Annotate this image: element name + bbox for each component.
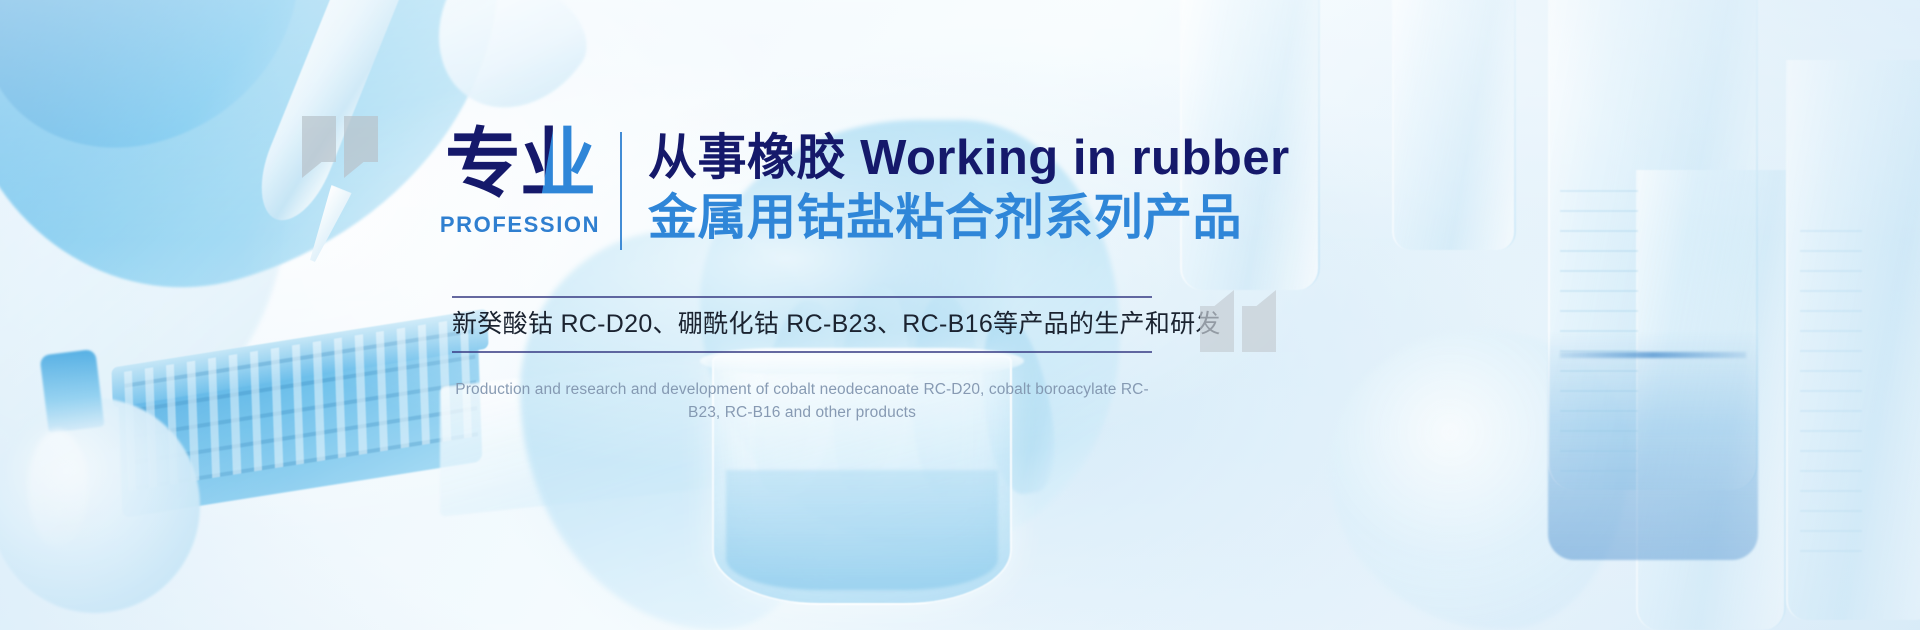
logo-char-zhuan: 专 bbox=[445, 122, 520, 207]
open-quote-icon bbox=[302, 116, 336, 162]
product-line: 新癸酸钴 RC-D20、硼酰化钴 RC-B23、RC-B16等产品的生产和研发 bbox=[452, 298, 1152, 351]
logo-char-ye: 业 bbox=[520, 122, 595, 207]
headline-lockup: 专业 PROFESSION 从事橡胶 Working in rubber 金属用… bbox=[446, 124, 1290, 250]
hero-banner: 专业 PROFESSION 从事橡胶 Working in rubber 金属用… bbox=[0, 0, 1920, 630]
vertical-divider bbox=[620, 132, 622, 250]
headline-line-2: 金属用钴盐粘合剂系列产品 bbox=[648, 188, 1290, 248]
profession-logo-label: PROFESSION bbox=[440, 212, 600, 238]
product-rule-top bbox=[452, 296, 1152, 298]
profession-logo-chinese: 专业 bbox=[445, 124, 595, 206]
banner-content: 专业 PROFESSION 从事橡胶 Working in rubber 金属用… bbox=[0, 0, 1920, 630]
product-rule-bottom bbox=[452, 351, 1152, 353]
headline-line-1: 从事橡胶 Working in rubber bbox=[648, 128, 1290, 188]
product-strip: 新癸酸钴 RC-D20、硼酰化钴 RC-B23、RC-B16等产品的生产和研发 bbox=[452, 296, 1152, 353]
profession-logo: 专业 PROFESSION bbox=[446, 124, 594, 238]
close-quote-icon bbox=[1200, 306, 1234, 352]
headline-block: 从事橡胶 Working in rubber 金属用钴盐粘合剂系列产品 bbox=[648, 124, 1290, 248]
open-quote-icon bbox=[344, 116, 378, 162]
english-caption: Production and research and development … bbox=[452, 378, 1152, 424]
close-quote-icon bbox=[1242, 306, 1276, 352]
